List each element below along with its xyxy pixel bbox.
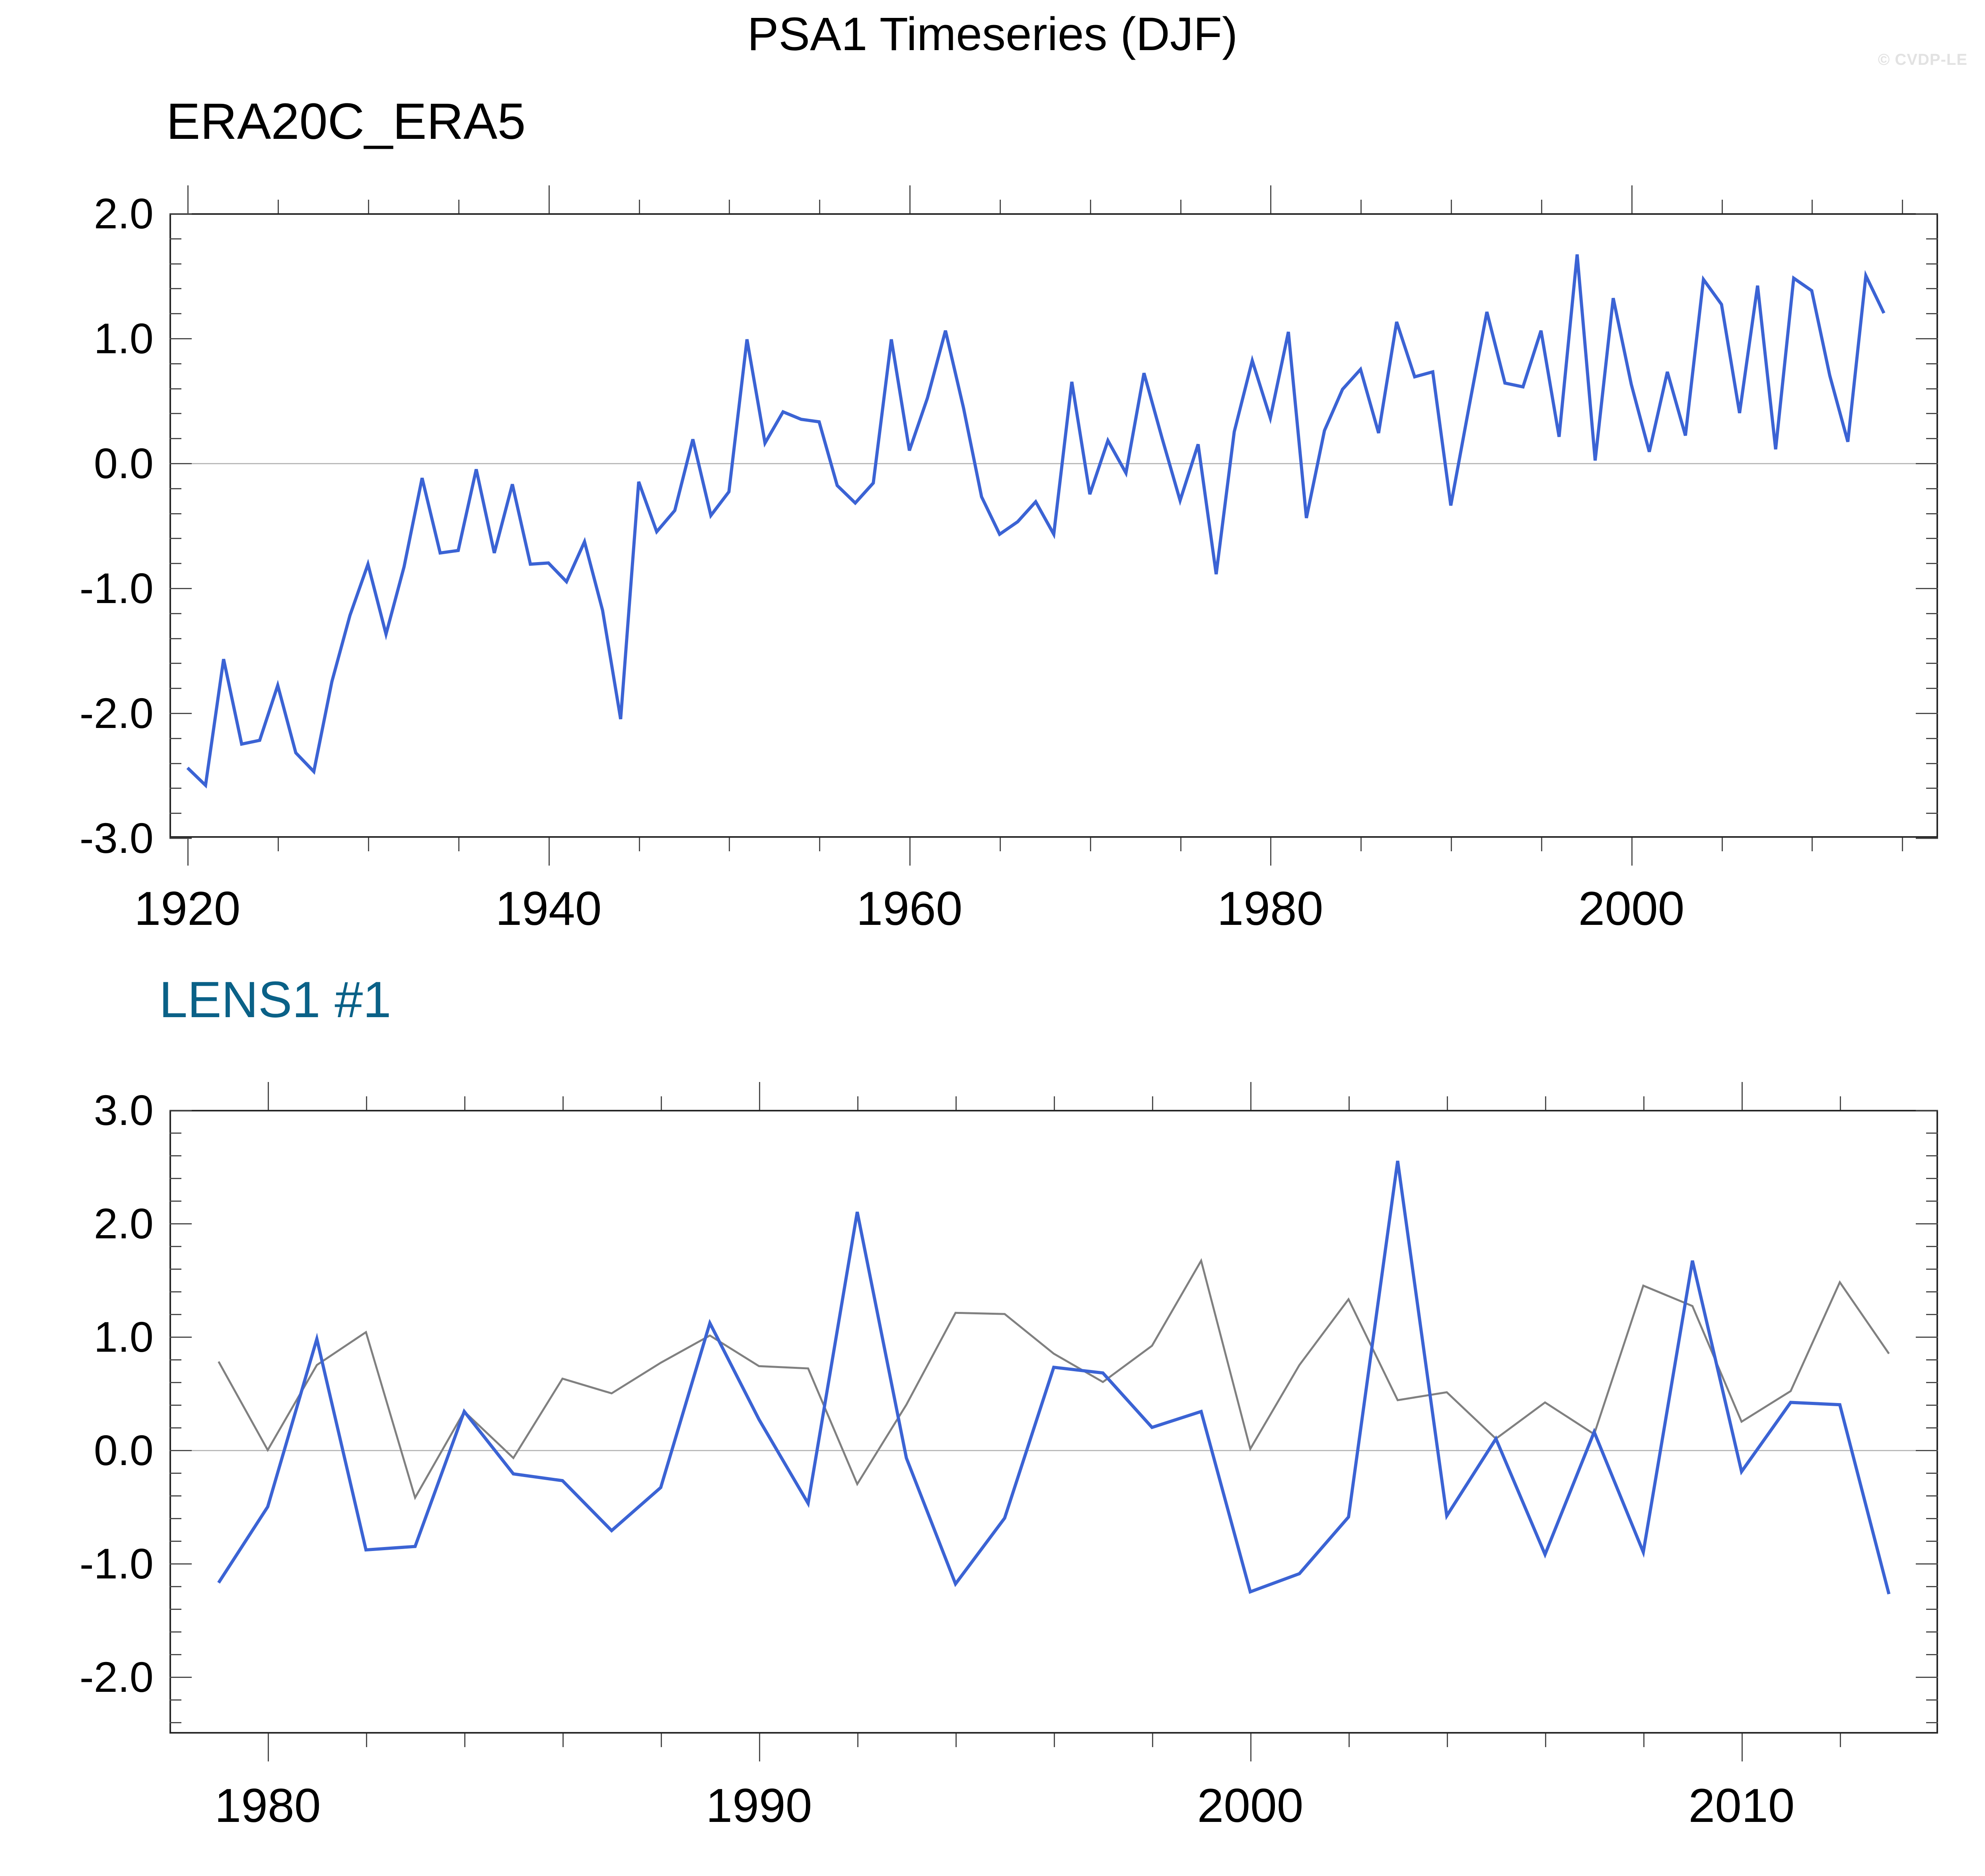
p2-line-observations <box>219 1261 1889 1498</box>
figure-root: PSA1 Timeseries (DJF) © CVDP-LE ERA20C_E… <box>0 0 1985 1876</box>
p2-line-lens1-1 <box>219 1161 1889 1594</box>
panel2-series-layer <box>0 0 1985 1876</box>
